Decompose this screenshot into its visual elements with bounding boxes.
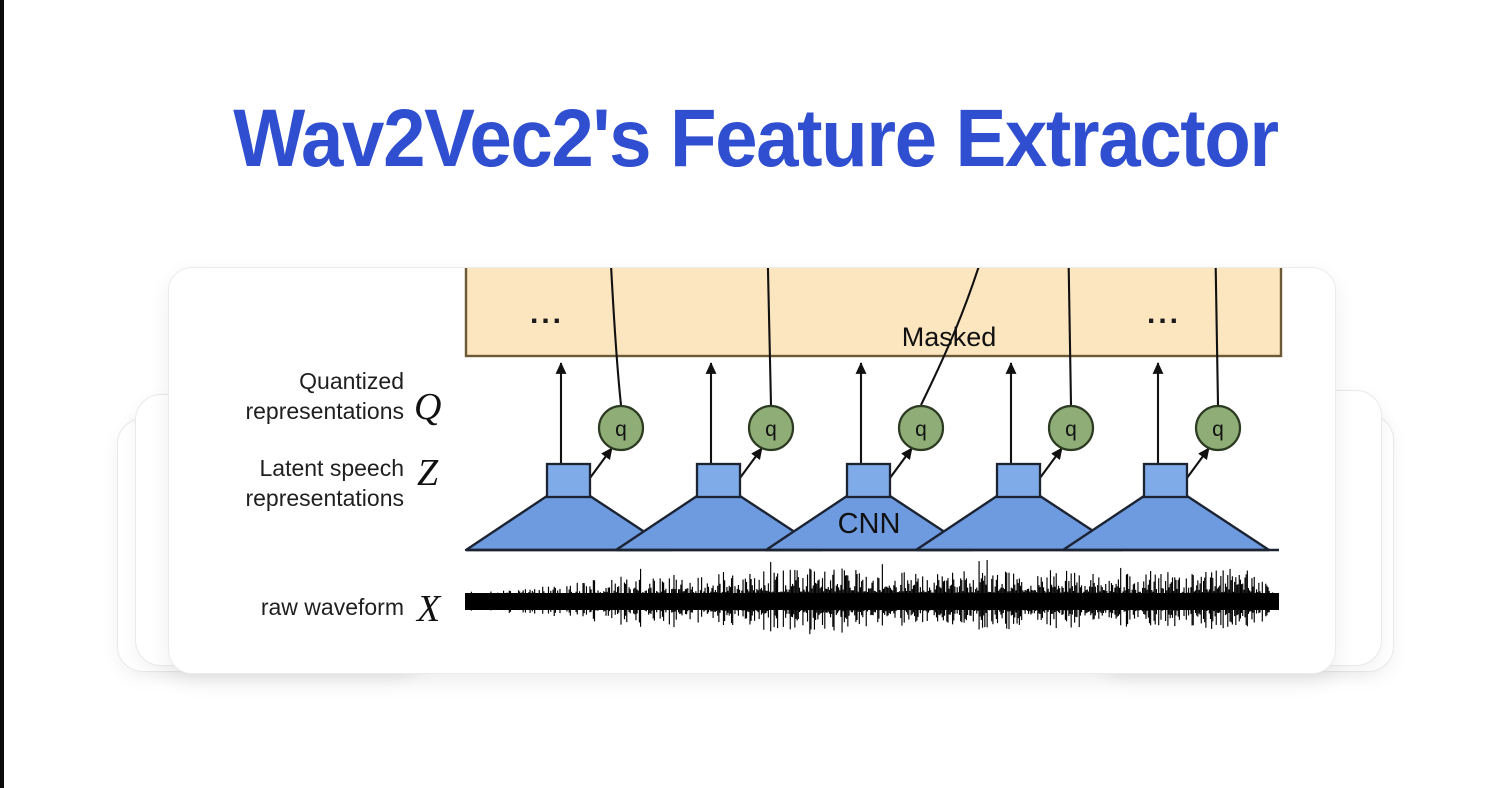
masked-right-ellipsis: ... bbox=[1147, 297, 1181, 330]
latent-to-quantizer-arrows bbox=[576, 448, 1209, 497]
quantizer-node-label: q bbox=[1065, 418, 1077, 441]
cnn-trapezoid bbox=[1063, 496, 1269, 550]
quantizer-node: q bbox=[899, 406, 943, 450]
quantizer-node: q bbox=[1049, 406, 1093, 450]
quantizer-node-label: q bbox=[615, 418, 627, 441]
latent-square bbox=[847, 464, 890, 497]
latent-square bbox=[697, 464, 740, 497]
architecture-diagram: Masked ... ... bbox=[169, 268, 1335, 673]
quantizer-node: q bbox=[1196, 406, 1240, 450]
masked-box-label: Masked bbox=[902, 322, 997, 352]
quantizer-node-label: q bbox=[915, 418, 927, 441]
latent-square bbox=[1144, 464, 1187, 497]
slide-canvas: Wav2Vec2's Feature Extractor Quantized r… bbox=[0, 0, 1511, 788]
quantizer-node-label: q bbox=[1212, 418, 1224, 441]
quantizer-node-label: q bbox=[765, 418, 777, 441]
masked-left-ellipsis: ... bbox=[530, 297, 564, 330]
raw-waveform bbox=[465, 559, 1280, 634]
page-title: Wav2Vec2's Feature Extractor bbox=[53, 92, 1458, 186]
quantizer-nodes: q q q q q bbox=[599, 406, 1240, 450]
waveform-core-band bbox=[465, 593, 1279, 610]
waveform-sample bbox=[1279, 600, 1280, 604]
latent-squares bbox=[547, 464, 1187, 497]
cnn-label: CNN bbox=[838, 508, 901, 540]
latent-square bbox=[547, 464, 590, 497]
latent-square bbox=[997, 464, 1040, 497]
quantizer-node: q bbox=[749, 406, 793, 450]
diagram-card: Quantized representations Q Latent speec… bbox=[168, 267, 1336, 674]
masked-box-group: Masked ... ... bbox=[466, 268, 1281, 356]
quantizer-node: q bbox=[599, 406, 643, 450]
left-edge-strip bbox=[0, 0, 4, 788]
